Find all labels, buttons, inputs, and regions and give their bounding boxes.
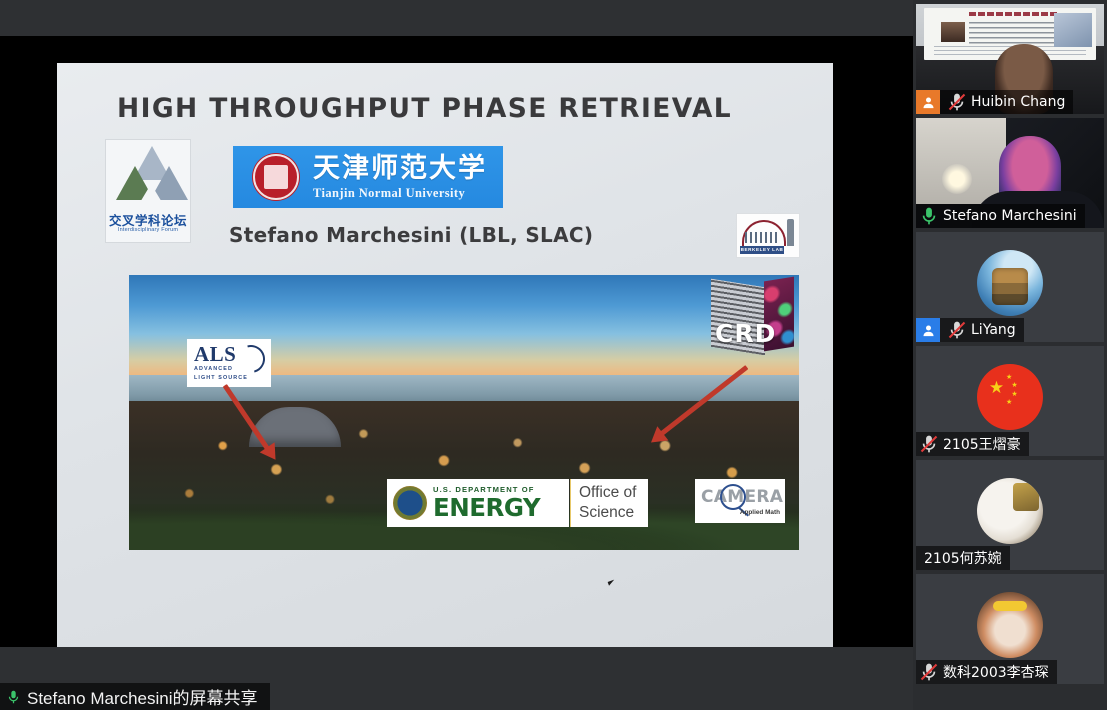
slide-author: Stefano Marchesini (LBL, SLAC) [229, 223, 593, 247]
participant-tile-2105-he-suwan[interactable]: 2105何苏婉 [916, 460, 1104, 570]
person-icon [916, 318, 940, 342]
university-name-cn: 天津师范大学 [313, 155, 487, 182]
magnifier-icon [720, 484, 746, 510]
university-logo-text: 天津师范大学 Tianjin Normal University [313, 155, 487, 200]
zoom-meeting-window: HIGH THROUGHPUT PHASE RETRIEVAL 交叉学科论坛 I… [0, 0, 1107, 710]
participant-tile-stefano-marchesini[interactable]: Stefano Marchesini [916, 118, 1104, 228]
crd-logo: CRD [711, 277, 795, 359]
interdisciplinary-forum-logo: 交叉学科论坛 Interdisciplinary Forum [105, 139, 191, 243]
participant-namebar: Huibin Chang [916, 90, 1073, 114]
avatar [977, 592, 1043, 658]
berkeley-lab-logo: BERKELEY LAB [736, 213, 800, 258]
forum-triangles-icon [106, 144, 191, 210]
participant-tile-2105-wang-yihao[interactable]: ★ ★ ★ ★ ★ 2105王熠豪 [916, 346, 1104, 456]
mic-unmuted-icon [919, 206, 939, 226]
tianjin-normal-university-logo: 天津师范大学 Tianjin Normal University [233, 146, 503, 208]
university-seal-icon [253, 154, 299, 200]
participant-tile-liyang[interactable]: LiYang [916, 232, 1104, 342]
als-subtitle-line2: LIGHT SOURCE [194, 374, 271, 382]
berkeley-columns-icon [745, 232, 779, 243]
mic-unmuted-icon [6, 688, 21, 706]
als-logo: ALS ADVANCED LIGHT SOURCE [187, 339, 271, 387]
office-of-science-logo: Office of Science [570, 479, 648, 527]
participant-tile-shuke-2003-li-xingchen[interactable]: 数科2003李杏琛 [916, 574, 1104, 684]
berkeley-lab-aerial-photo: ALS ADVANCED LIGHT SOURCE CRD [129, 275, 799, 550]
participant-namebar: 数科2003李杏琛 [916, 660, 1057, 684]
doe-seal-icon [393, 486, 427, 520]
participant-tile-huibin-chang[interactable]: Huibin Chang [916, 4, 1104, 114]
participant-name: 2105王熠豪 [943, 434, 1021, 454]
doe-wordmark: U.S. DEPARTMENT OF ENERGY [433, 486, 540, 520]
mic-muted-icon [919, 434, 939, 454]
mic-muted-icon [947, 92, 967, 112]
presentation-slide: HIGH THROUGHPUT PHASE RETRIEVAL 交叉学科论坛 I… [57, 63, 833, 647]
participant-name: Stefano Marchesini [943, 208, 1077, 224]
camera-applied-math-logo: CAMERA Applied Math [695, 479, 785, 523]
doe-big-text: ENERGY [433, 496, 540, 521]
office-of-science-line2: Science [579, 503, 648, 523]
participant-namebar: 2105何苏婉 [916, 546, 1010, 570]
us-department-of-energy-logo: U.S. DEPARTMENT OF ENERGY [387, 479, 569, 527]
campanile-icon [787, 219, 794, 246]
avatar: ★ ★ ★ ★ ★ [977, 364, 1043, 430]
camera-subtitle: Applied Math [740, 509, 780, 516]
participant-name: 数科2003李杏琛 [943, 662, 1049, 682]
avatar [977, 250, 1043, 316]
person-icon [916, 90, 940, 114]
office-of-science-line1: Office of [579, 483, 648, 503]
participant-name: LiYang [971, 322, 1016, 338]
participant-namebar: 2105王熠豪 [916, 432, 1029, 456]
slide-title: HIGH THROUGHPUT PHASE RETRIEVAL [117, 93, 797, 124]
crd-wordmark: CRD [715, 319, 776, 348]
mic-muted-icon [919, 662, 939, 682]
screen-share-banner-label: Stefano Marchesini的屏幕共享 [27, 684, 258, 709]
participant-namebar: LiYang [916, 318, 1024, 342]
university-name-en: Tianjin Normal University [313, 187, 487, 200]
avatar [977, 478, 1043, 544]
screen-share-banner: Stefano Marchesini的屏幕共享 [0, 683, 270, 710]
mic-muted-icon [947, 320, 967, 340]
participant-name: 2105何苏婉 [924, 548, 1002, 568]
shared-screen-stage[interactable]: HIGH THROUGHPUT PHASE RETRIEVAL 交叉学科论坛 I… [0, 0, 913, 710]
forum-logo-en: Interdisciplinary Forum [106, 227, 190, 233]
participant-filmstrip[interactable]: Huibin Chang Stefano Marchesini [913, 0, 1107, 710]
participant-namebar: Stefano Marchesini [916, 204, 1085, 228]
berkeley-lab-wordmark: BERKELEY LAB [740, 246, 784, 254]
participant-name: Huibin Chang [971, 94, 1065, 110]
